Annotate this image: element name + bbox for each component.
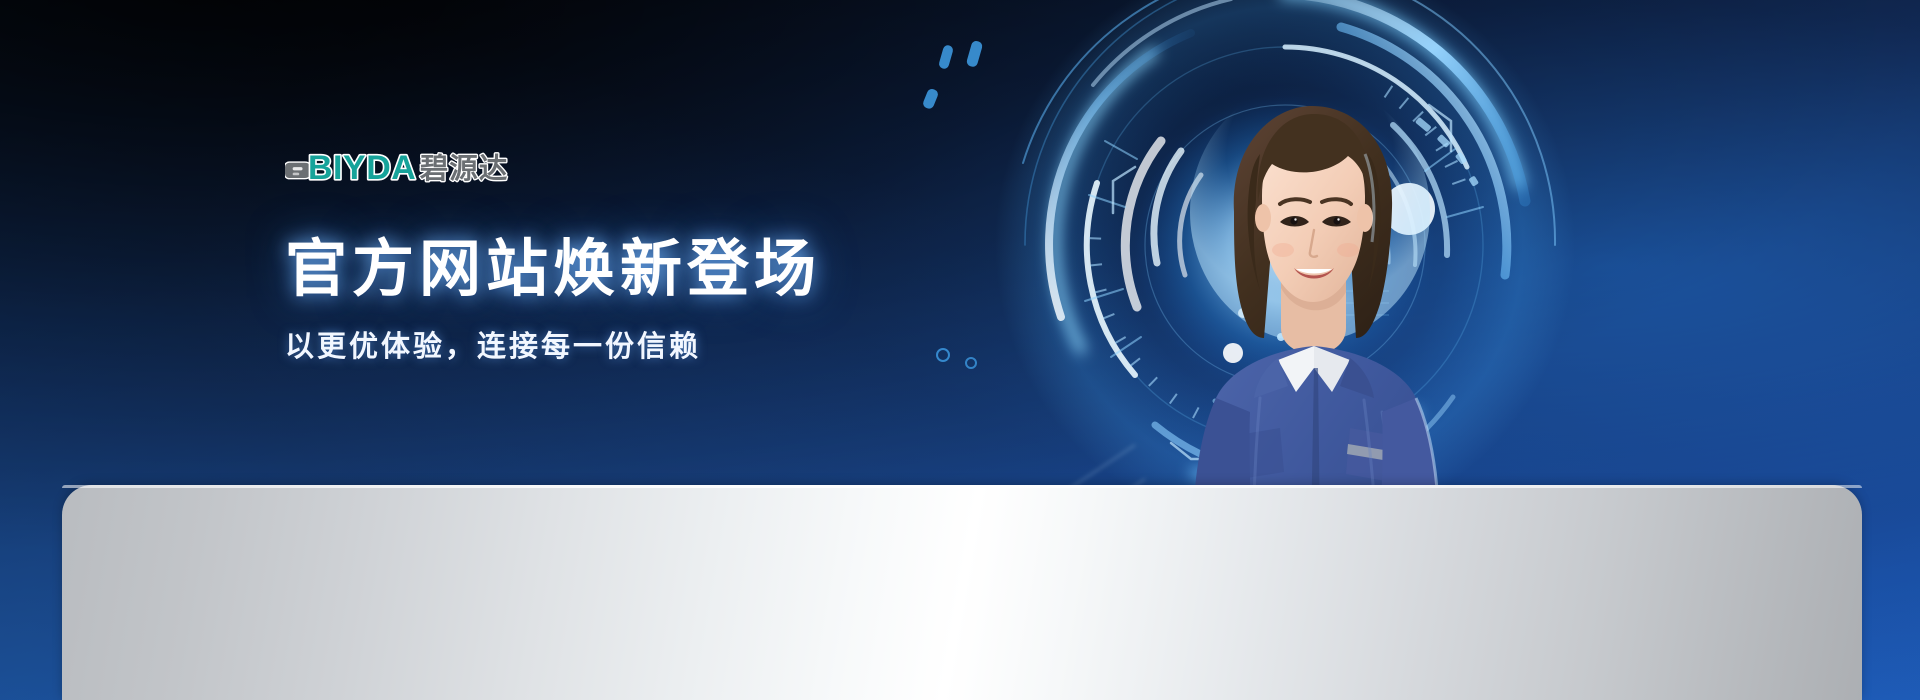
tech-ring-graphic: [985, 0, 1585, 545]
svg-text:BIYDA: BIYDA: [308, 149, 416, 187]
hero-headline: 官方网站焕新登场: [285, 238, 1025, 301]
brand-logo[interactable]: BIYDA 碧源达 BIYDA 碧源达: [285, 140, 1025, 192]
bottom-silver-panel: [62, 485, 1862, 700]
hero-content: BIYDA 碧源达 BIYDA 碧源达 官方网站焕新登场 以更优体验，连接每一份…: [285, 140, 1025, 365]
svg-text:碧源达: 碧源达: [419, 152, 509, 185]
hero-subheadline: 以更优体验，连接每一份信赖: [285, 323, 1025, 365]
brand-logo-mark: BIYDA 碧源达: [285, 143, 542, 189]
hero-banner: BIYDA 碧源达 BIYDA 碧源达 官方网站焕新登场 以更优体验，连接每一份…: [0, 0, 1920, 700]
